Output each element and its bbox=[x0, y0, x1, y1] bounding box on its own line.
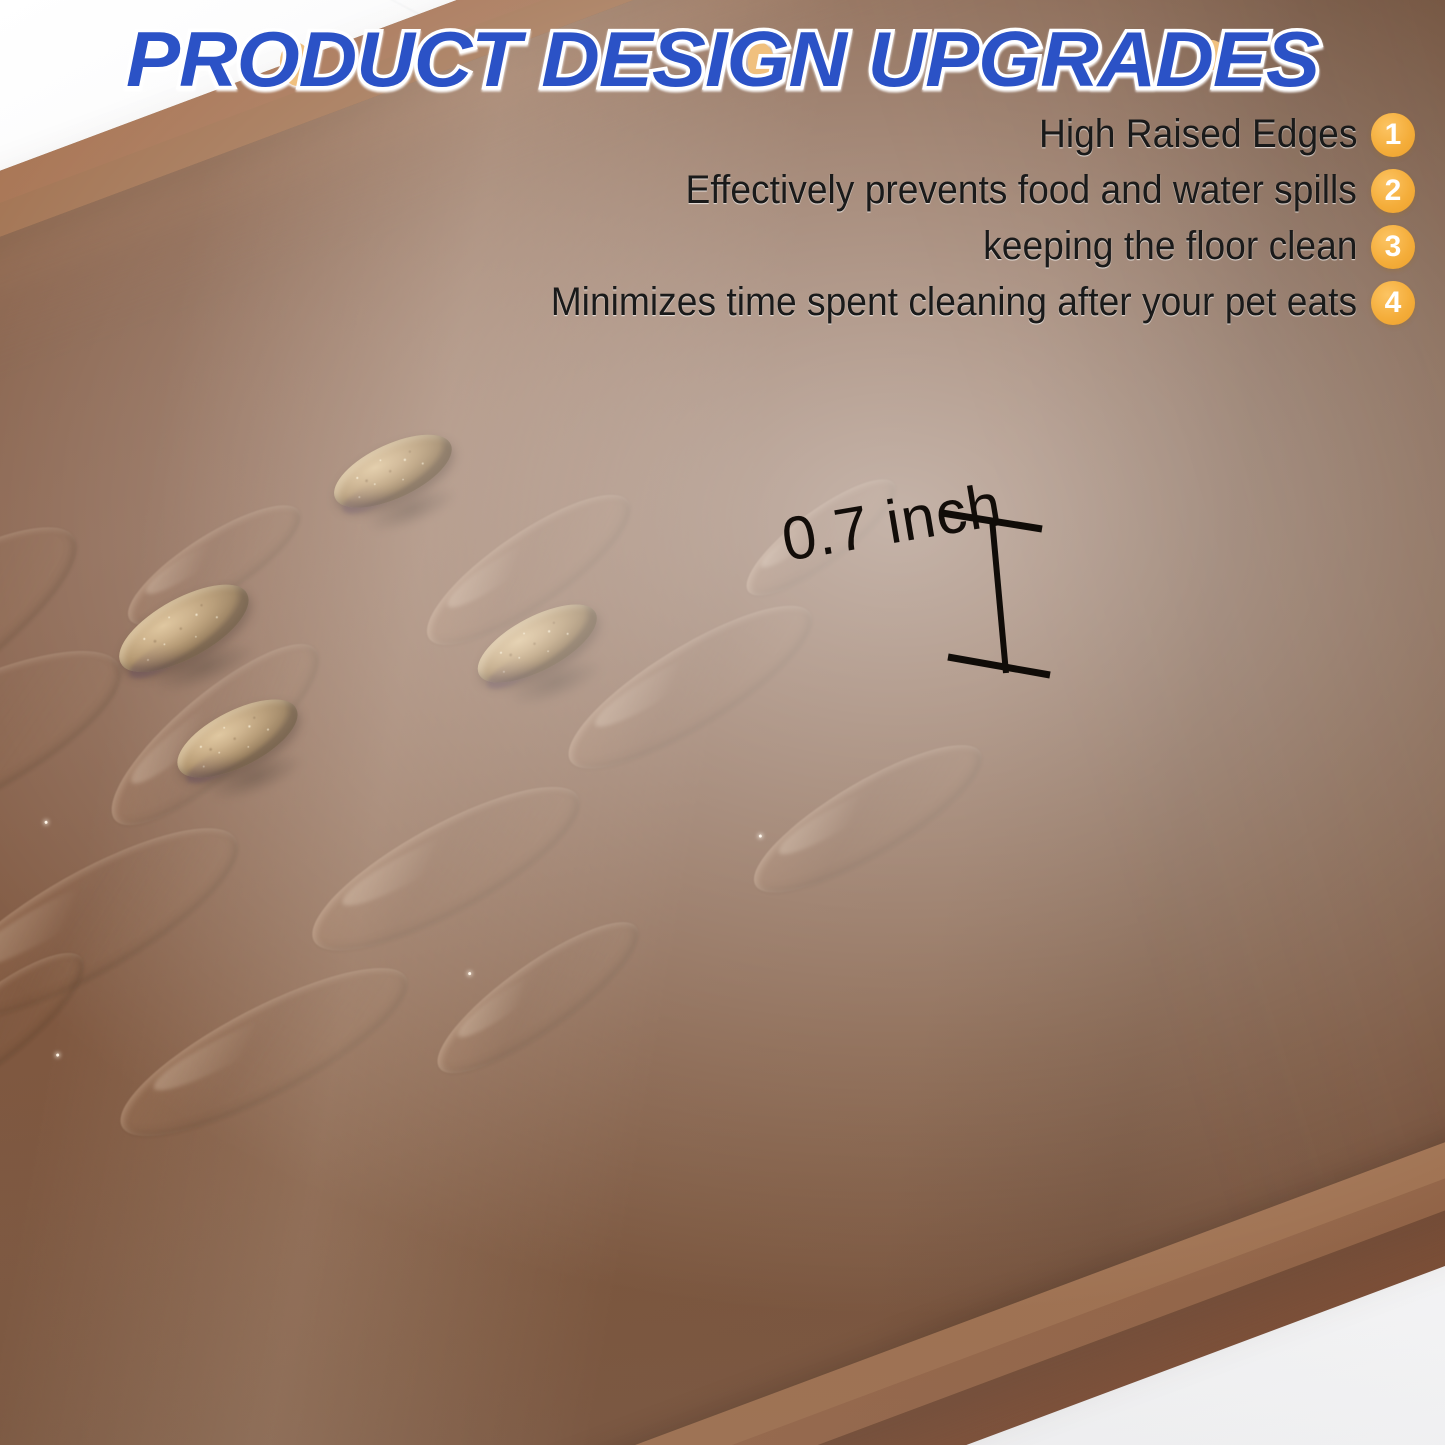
page-title-text: PRODUCT DESIGN UPGRADES bbox=[126, 15, 1319, 103]
feature-list: High Raised Edges 1 Effectively prevents… bbox=[355, 112, 1415, 325]
feature-item-4: Minimizes time spent cleaning after your… bbox=[490, 280, 1415, 325]
product-marketing-image: 0.7 inch PRODUCT DESIGN UPGRADES High Ra… bbox=[0, 0, 1445, 1445]
dimension-i-beam-marker bbox=[930, 495, 1090, 685]
feature-label: High Raised Edges bbox=[1039, 112, 1357, 157]
feature-number-badge: 4 bbox=[1371, 281, 1415, 325]
page-title: PRODUCT DESIGN UPGRADES bbox=[0, 14, 1445, 105]
feature-label: keeping the floor clean bbox=[983, 224, 1357, 269]
feature-label: Effectively prevents food and water spil… bbox=[686, 168, 1357, 213]
feature-number-badge: 3 bbox=[1371, 225, 1415, 269]
feature-item-2: Effectively prevents food and water spil… bbox=[635, 168, 1415, 213]
feature-number-badge: 1 bbox=[1371, 113, 1415, 157]
feature-item-3: keeping the floor clean 3 bbox=[955, 224, 1416, 269]
i-beam-bottom-cap bbox=[948, 657, 1050, 675]
feature-item-1: High Raised Edges 1 bbox=[1015, 112, 1415, 157]
i-beam-stem bbox=[992, 519, 1006, 673]
feature-number-badge: 2 bbox=[1371, 169, 1415, 213]
feature-label: Minimizes time spent cleaning after your… bbox=[551, 280, 1357, 325]
